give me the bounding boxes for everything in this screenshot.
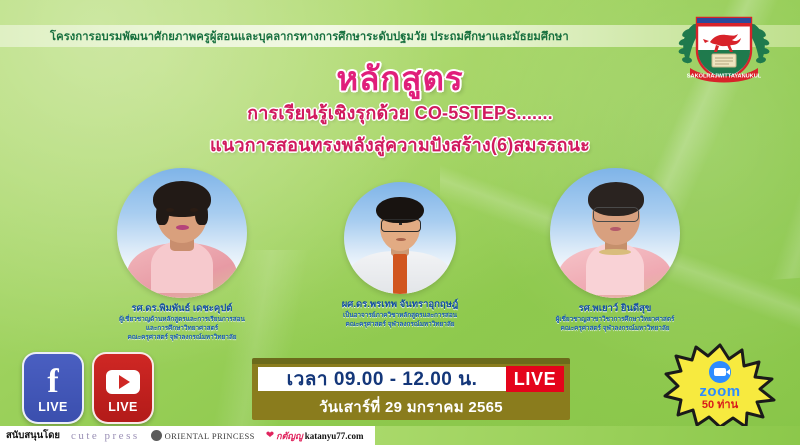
heart-icon: ❤ <box>266 430 274 441</box>
speaker-detail-2-line-2: คณะครุศาสตร์ จุฬาลงกรณ์มหาวิทยาลัย <box>285 320 515 329</box>
live-badge: LIVE <box>506 366 564 392</box>
youtube-live-button[interactable]: LIVE <box>92 352 154 424</box>
speaker-detail-1-line-2: และการศึกษาวิทยาศาสตร์ <box>67 324 297 333</box>
facebook-icon: f <box>47 363 58 401</box>
zoom-camera-icon <box>709 361 731 383</box>
oriental-princess-icon <box>151 430 162 441</box>
speaker-name-1: รศ.ดร.พิมพันธ์ เดชะคุปต์ <box>67 303 297 315</box>
youtube-icon <box>106 363 140 401</box>
sponsor-katanyu-domain: katanyu77.com <box>305 431 364 441</box>
youtube-live-label: LIVE <box>108 401 137 414</box>
speaker-card-1: รศ.ดร.พิมพันธ์ เดชะคุปต์ ผู้เชี่ยวชาญด้า… <box>67 168 297 343</box>
facebook-live-button[interactable]: f LIVE <box>22 352 84 424</box>
sponsor-oriental-princess-label: ORIENTAL PRINCESS <box>165 431 255 441</box>
speaker-card-2: ผศ.ดร.พรเทพ จันทราอุกฤษฎ์ เป็นอาจารย์ภาค… <box>285 182 515 329</box>
sponsor-oriental-princess: ORIENTAL PRINCESS <box>151 430 255 441</box>
speaker-photo-2 <box>344 182 456 294</box>
event-date: วันเสาร์ที่ 29 มกราคม 2565 <box>252 394 570 420</box>
poster-subtitle-2: แนวการสอนทรงพลังสู่ความปังสร้าง(6)สมรรถน… <box>0 130 800 159</box>
program-header-text: โครงการอบรมพัฒนาศักยภาพครูผู้สอนและบุคลา… <box>50 27 569 45</box>
zoom-label: zoom <box>699 384 740 399</box>
sponsor-strip: สนับสนุนโดย cute press ORIENTAL PRINCESS… <box>0 426 800 445</box>
plaque-time-row: เวลา 09.00 - 12.00 น. LIVE <box>252 364 570 394</box>
facebook-live-label: LIVE <box>38 401 67 414</box>
speaker-card-3: รศ.พเยาว์ ยินดีสุข ผู้เชี่ยวชาญสาขาวิชาก… <box>500 168 730 333</box>
time-panel: เวลา 09.00 - 12.00 น. <box>258 367 506 391</box>
speaker-detail-3-line-2: คณะครุศาสตร์ จุฬาลงกรณ์มหาวิทยาลัย <box>500 324 730 333</box>
speaker-detail-2-line-1: เป็นอาจารย์ภาควิชาหลักสูตรและการสอน <box>285 311 515 320</box>
speaker-detail-1-line-3: คณะครุศาสตร์ จุฬาลงกรณ์มหาวิทยาลัย <box>67 333 297 342</box>
speaker-photo-1 <box>117 168 247 298</box>
speaker-photo-3 <box>550 168 680 298</box>
live-channel-buttons: f LIVE LIVE <box>22 352 154 424</box>
schedule-plaque: เวลา 09.00 - 12.00 น. LIVE วันเสาร์ที่ 2… <box>252 358 570 420</box>
speaker-detail-3-line-1: ผู้เชี่ยวชาญสาขาวิชาการศึกษาวิทยาศาสตร์ <box>500 315 730 324</box>
speaker-name-2: ผศ.ดร.พรเทพ จันทราอุกฤษฎ์ <box>285 299 515 311</box>
sponsor-katanyu: ❤ กตัญญู katanyu77.com <box>266 429 364 443</box>
webinar-poster: โครงการอบรมพัฒนาศักยภาพครูผู้สอนและบุคลา… <box>0 0 800 445</box>
sponsor-katanyu-thai: กตัญญู <box>276 429 303 443</box>
speaker-detail-1-line-1: ผู้เชี่ยวชาญด้านหลักสูตรและการเรียนการสอ… <box>67 315 297 324</box>
sponsor-cute-press: cute press <box>71 430 140 442</box>
speaker-name-3: รศ.พเยาว์ ยินดีสุข <box>500 303 730 315</box>
zoom-capacity-badge: zoom 50 ท่าน <box>662 343 778 429</box>
event-time: เวลา 09.00 - 12.00 น. <box>287 364 478 394</box>
sponsor-strip-filler <box>375 426 800 445</box>
poster-subtitle-1: การเรียนรู้เชิงรุกด้วย CO-5STEPs....... <box>0 98 800 127</box>
sponsor-label: สนับสนุนโดย <box>6 428 60 443</box>
zoom-capacity-text: 50 ท่าน <box>702 400 738 411</box>
